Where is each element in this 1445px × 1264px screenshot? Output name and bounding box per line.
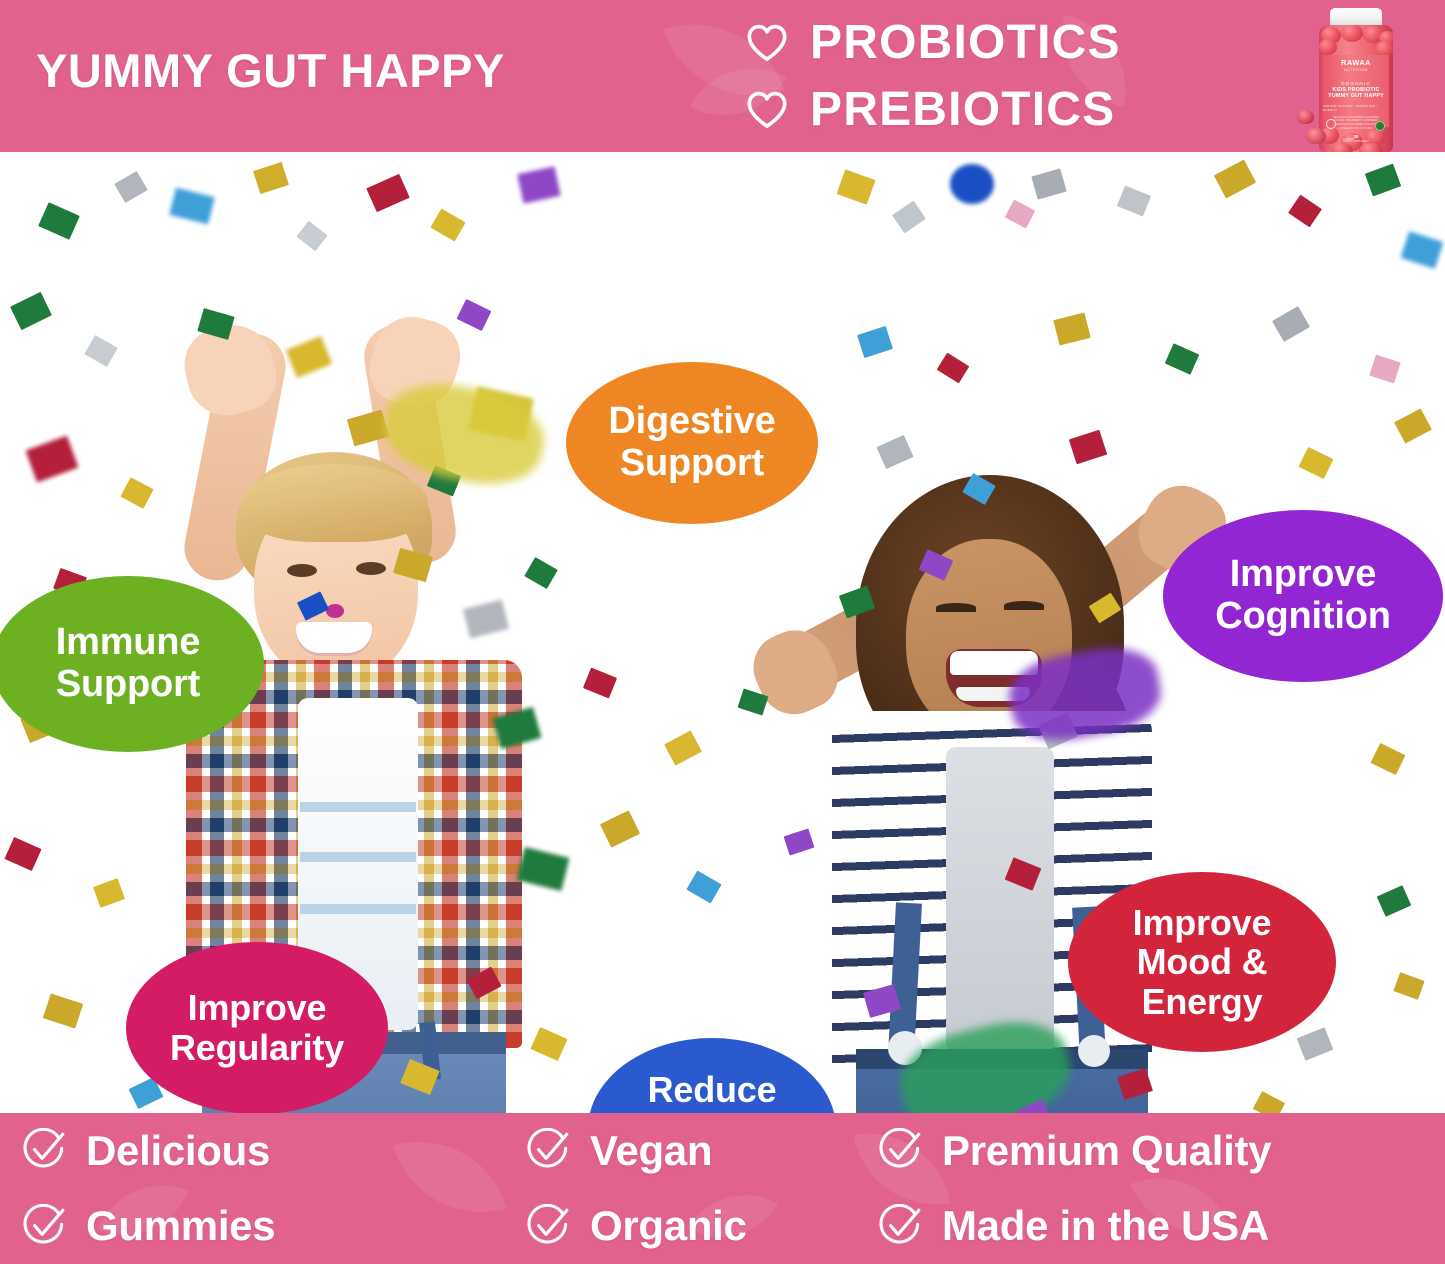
benefit-line: Improve xyxy=(164,988,350,1028)
claim-label: PREBIOTICS xyxy=(810,86,1115,134)
check-circle-icon xyxy=(878,1128,923,1173)
feature-label: Made in the USA xyxy=(942,1205,1269,1247)
feature-item-delicious: Delicious xyxy=(0,1128,498,1173)
header-bar: YUMMY GUT HAPPY PROBIOTICS PREBIOTICS xyxy=(0,0,1445,152)
benefit-line: Immune xyxy=(50,622,207,664)
feature-item-vegan: Vegan xyxy=(498,1128,870,1173)
benefit-bubble-improve-regularity[interactable]: ImproveRegularity xyxy=(126,942,388,1113)
benefit-line: Cognition xyxy=(1209,596,1396,638)
gummy-icon xyxy=(1341,25,1363,42)
benefit-line: Regularity xyxy=(164,1028,350,1068)
feature-label: Gummies xyxy=(86,1205,275,1247)
bottle-product-name: KIDS PROBIOTIC YUMMY GUT HAPPY xyxy=(1328,87,1384,100)
feature-label: Delicious xyxy=(86,1130,270,1172)
benefit-line: Digestive xyxy=(602,401,781,443)
feature-label: Vegan xyxy=(590,1130,712,1172)
certification-seal-icon xyxy=(1326,119,1336,129)
feature-item-gummies: Gummies xyxy=(0,1204,498,1249)
benefit-line: Energy xyxy=(1127,982,1278,1022)
benefit-line: Reduce xyxy=(632,1070,792,1110)
page-title: YUMMY GUT HAPPY xyxy=(36,47,505,94)
claim-item-prebiotics: PREBIOTICS xyxy=(746,81,1121,139)
gummy-icon xyxy=(1319,39,1337,55)
header-claims-list: PROBIOTICS PREBIOTICS xyxy=(746,14,1121,139)
loose-gummy-icon xyxy=(1306,128,1326,144)
footer-features-bar: Delicious Vegan Premium Quality xyxy=(0,1113,1445,1264)
heart-icon xyxy=(746,90,788,130)
product-infographic: YUMMY GUT HAPPY PROBIOTICS PREBIOTICS xyxy=(0,0,1445,1264)
benefit-bubble-immune-support[interactable]: ImmuneSupport xyxy=(0,576,264,752)
benefit-bubble-improve-cognition[interactable]: ImproveCognition xyxy=(1163,510,1443,682)
benefit-line: Improve xyxy=(1127,903,1278,943)
check-circle-icon xyxy=(22,1204,67,1249)
hero-photo: DigestiveSupport ImmuneSupport ImproveCo… xyxy=(0,152,1445,1113)
benefit-line: Support xyxy=(50,664,207,706)
feature-label: Organic xyxy=(590,1205,747,1247)
bottle-label: RAWAA NUTRITION ORGANIC KIDS PROBIOTIC Y… xyxy=(1323,55,1389,127)
benefit-line: Mood & xyxy=(1127,942,1278,982)
benefit-line: Improve xyxy=(1209,554,1396,596)
gummy-icon xyxy=(1359,143,1383,152)
feature-label: Premium Quality xyxy=(942,1130,1271,1172)
check-circle-icon xyxy=(878,1204,923,1249)
check-circle-icon xyxy=(526,1128,571,1173)
feature-item-premium-quality: Premium Quality xyxy=(870,1128,1445,1173)
feature-item-made-in-usa: Made in the USA xyxy=(870,1204,1445,1249)
feature-item-organic: Organic xyxy=(498,1204,870,1249)
benefit-line: Support xyxy=(602,443,781,485)
usda-organic-seal-icon xyxy=(1375,121,1385,131)
bottle-body: RAWAA NUTRITION ORGANIC KIDS PROBIOTIC Y… xyxy=(1319,25,1393,152)
bottle-features: IMMUNE SYSTEM • DIGESTION • ENERGY xyxy=(1323,104,1389,112)
gummy-icon xyxy=(1331,143,1353,152)
bottle-brand: RAWAA xyxy=(1341,59,1371,67)
claim-item-probiotics: PROBIOTICS xyxy=(746,14,1121,72)
bottle-count-sub: GUMMIES DIETARY SUPPLEMENT xyxy=(1343,139,1369,143)
bottle-organic-label: ORGANIC xyxy=(1341,81,1371,86)
benefit-bubble-improve-mood-energy[interactable]: ImproveMood &Energy xyxy=(1068,872,1336,1052)
loose-gummy-icon xyxy=(1297,110,1314,124)
claim-label: PROBIOTICS xyxy=(810,19,1121,67)
product-bottle-image: RAWAA NUTRITION ORGANIC KIDS PROBIOTIC Y… xyxy=(1310,6,1402,152)
check-circle-icon xyxy=(22,1128,67,1173)
heart-icon xyxy=(746,23,788,63)
benefit-bubble-digestive-support[interactable]: DigestiveSupport xyxy=(566,362,818,524)
bottle-brand-sub: NUTRITION xyxy=(1344,68,1368,72)
check-circle-icon xyxy=(526,1204,571,1249)
